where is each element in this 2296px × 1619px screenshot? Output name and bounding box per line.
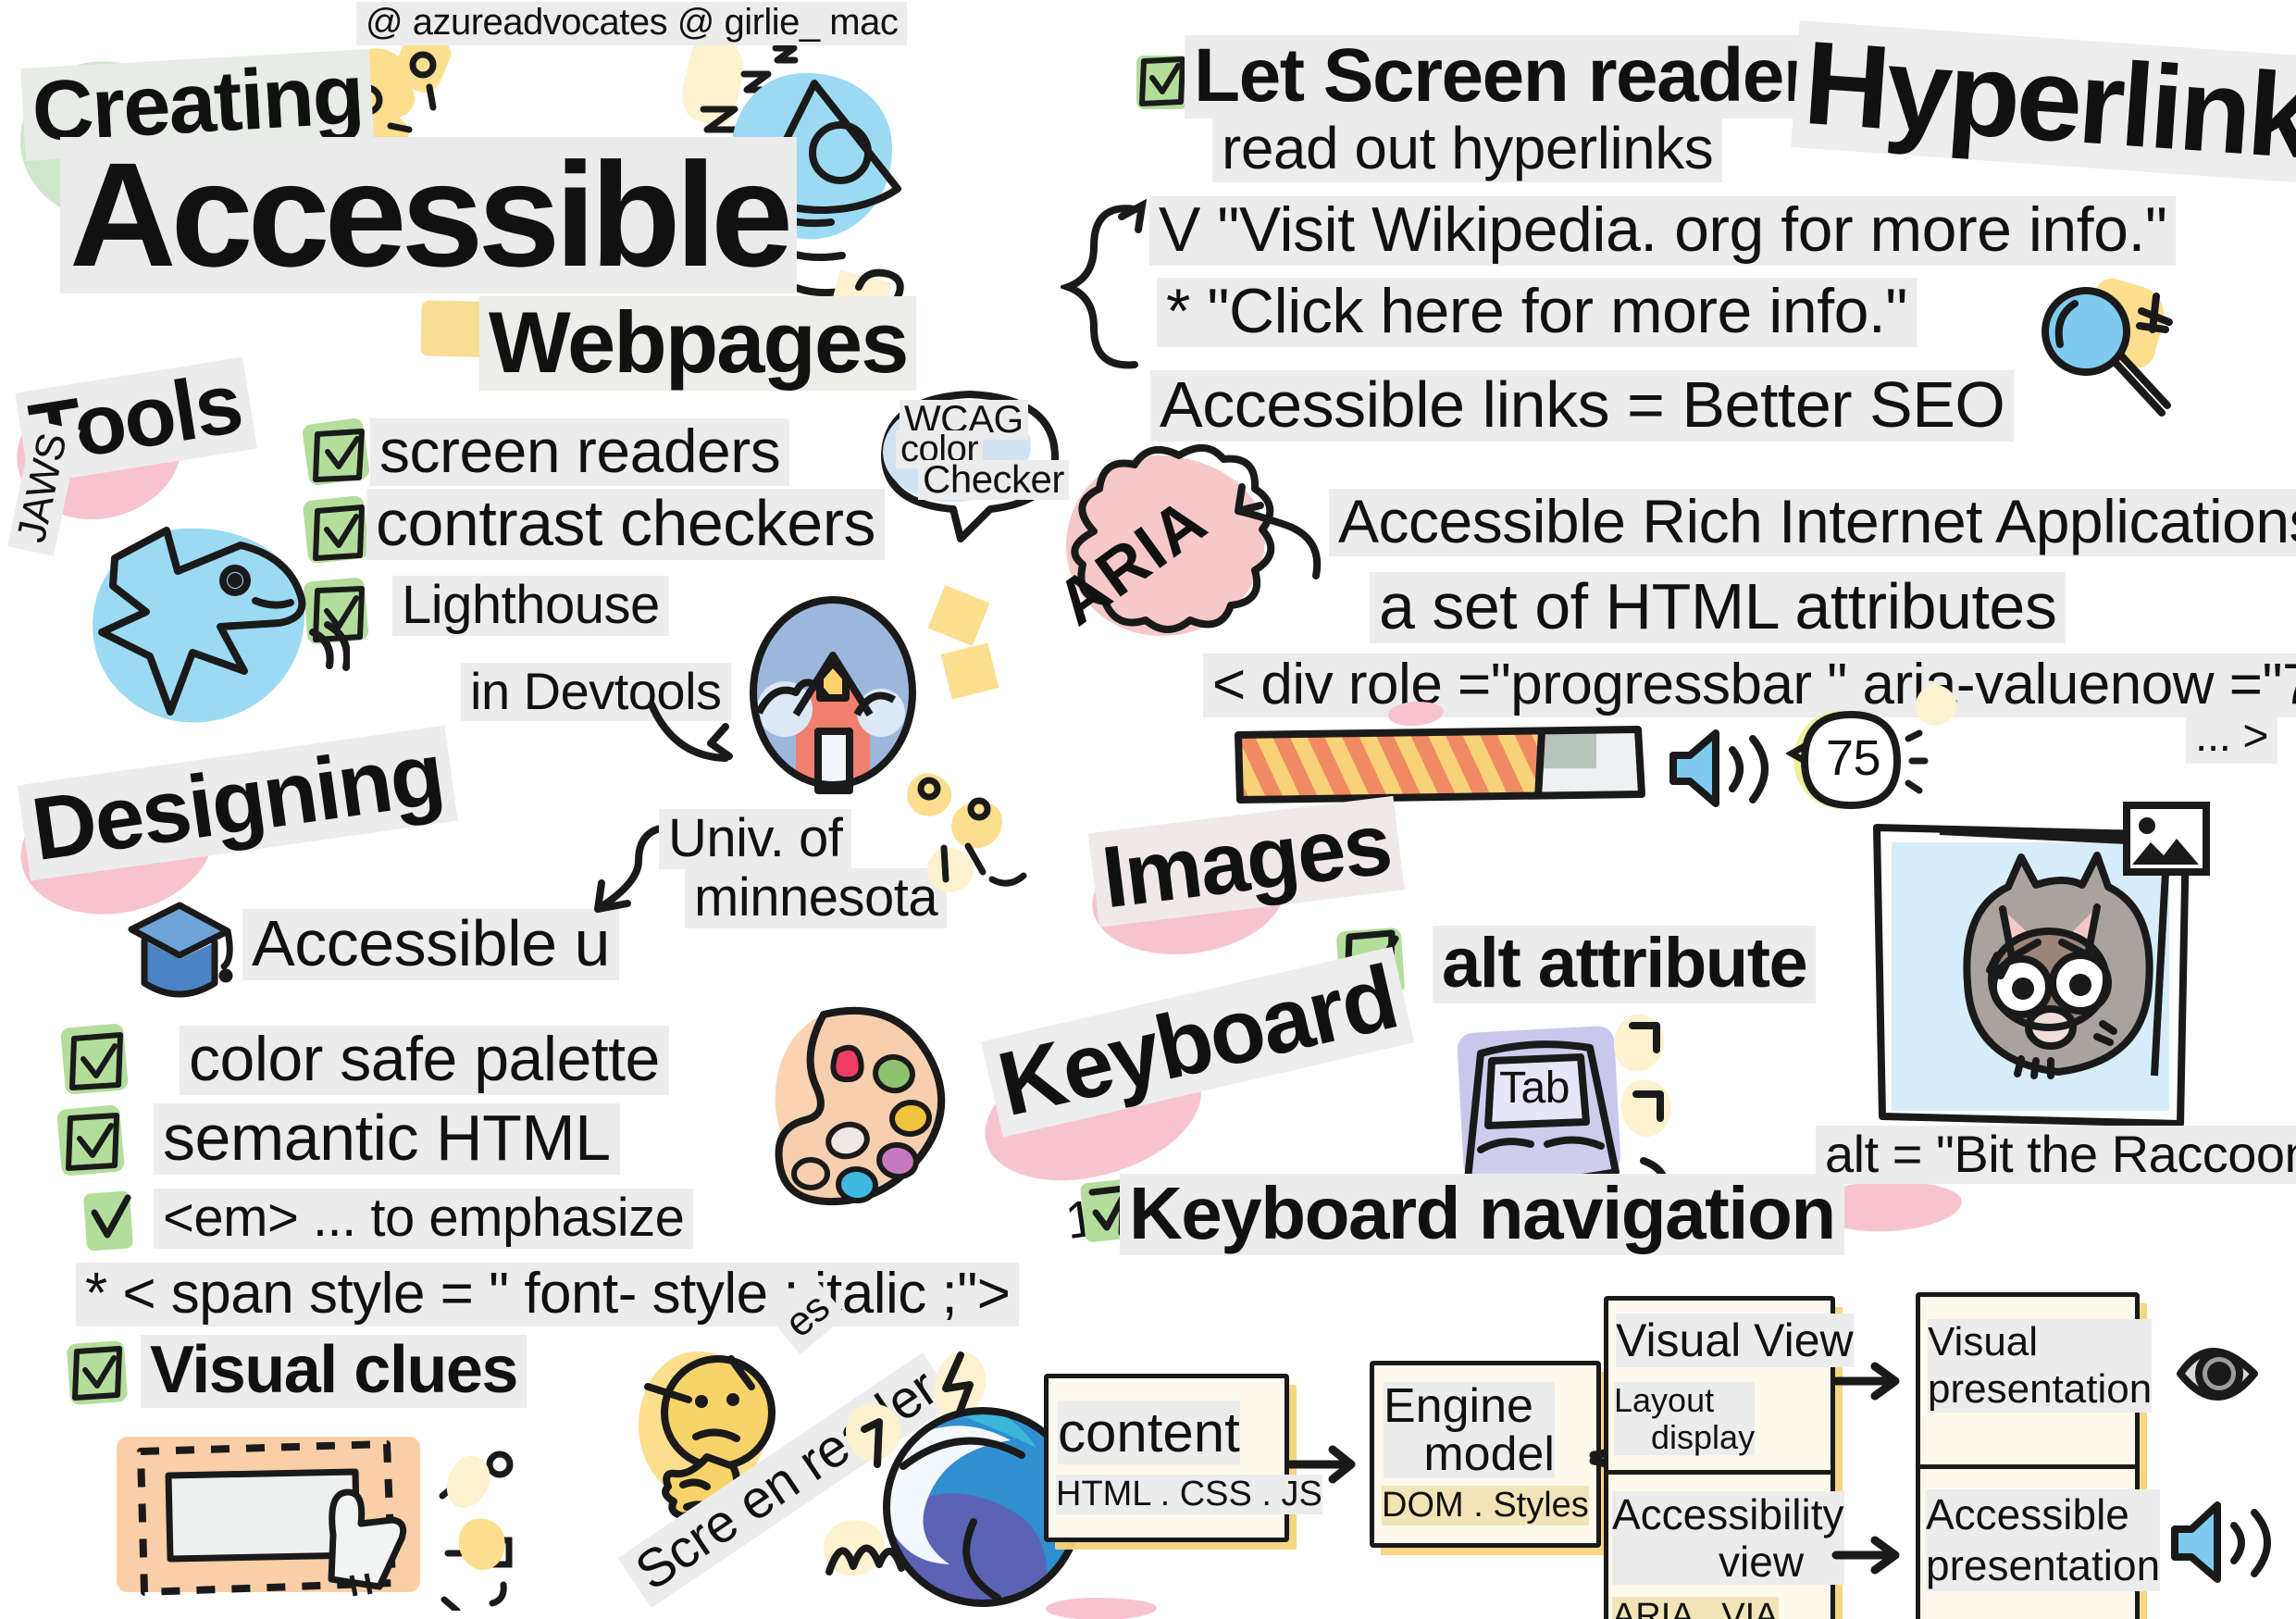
flow-arrow-a11yview-to-accessible: [1831, 1527, 1914, 1583]
flow-node-visual-presentation-title: Visual presentation: [1928, 1319, 2152, 1413]
speaker-icon-aria: [1664, 722, 1784, 815]
aria-progress-value: 75: [1817, 731, 1890, 788]
visual-clues-label: Visual clues: [141, 1335, 527, 1408]
alt-value-text: alt = "Bit the Raccoon": [1816, 1126, 2296, 1184]
flow-node-engine-sub: DOM . Styles: [1382, 1486, 1589, 1526]
hyperlinks-curly-bracket: [1061, 196, 1162, 381]
sticky-yellow-lighthouse-2: [941, 642, 999, 699]
sketchnote-canvas: @ azureadvocates @ girlie_ mac Creating …: [0, 0, 2296, 1619]
lighthouse-arrow: [639, 690, 768, 801]
flow-node-accessibility-view-title: Accessibility view: [1612, 1491, 1844, 1585]
lighthouse-icon: [740, 592, 925, 796]
hyperlinks-line-1: Let Screen reader: [1185, 35, 1820, 118]
graduation-cap-icon: [118, 890, 243, 1015]
tools-item-label-1: contrast checkers: [366, 489, 885, 560]
flow-node-engine: Engine model DOM . Styles: [1370, 1361, 1601, 1548]
hyperlinks-seo-note: Accessible links = Better SEO: [1150, 370, 2014, 442]
checkbox-screen-readers[interactable]: [309, 424, 370, 485]
flow-arrow-content-to-engine: [1285, 1437, 1368, 1492]
flow-node-engine-title: Engine model: [1384, 1382, 1555, 1478]
flow-node-accessible-presentation: Accessible presentation: [1916, 1464, 2140, 1619]
focus-ring-icon: [120, 1435, 435, 1611]
flow-arrow-visualview-to-visual: [1831, 1353, 1914, 1409]
keyboard-item-label: Keyboard navigation: [1120, 1174, 1844, 1255]
designing-item-label-0: color safe palette: [180, 1026, 669, 1095]
aria-arrow-from-cloud: [1212, 472, 1342, 592]
flow-node-content-sub: HTML . CSS . JS: [1056, 1475, 1322, 1514]
flow-node-visual-view: Visual View Layout display: [1604, 1296, 1835, 1481]
aria-code-snippet: < div role ="progressbar " aria-valuenow…: [1203, 654, 2296, 717]
tools-item-label-0: screen readers: [370, 418, 789, 486]
checkbox-color-safe-palette[interactable]: [65, 1027, 130, 1094]
hyperlinks-heading: Hyperlinks: [1791, 20, 2296, 187]
flow-node-visual-view-title: Visual View: [1616, 1314, 1854, 1367]
checkbox-let-screen-reader[interactable]: [1136, 54, 1190, 109]
designing-heading: Designing: [18, 726, 458, 881]
tab-key-label: Tab: [1490, 1065, 1579, 1115]
progress-bar-icon: [1231, 722, 1647, 810]
designing-item-label-1: semantic HTML: [154, 1103, 620, 1175]
eye-icon: [2166, 1314, 2277, 1435]
designing-item-label-2: <em> ... to emphasize: [154, 1189, 693, 1249]
flow-node-content: content HTML . CSS . JS: [1044, 1374, 1289, 1542]
checkbox-semantic-html[interactable]: [61, 1109, 126, 1176]
title-word-webpages: Webpages: [479, 296, 916, 391]
hyperlinks-good-example: V "Visit Wikipedia. org for more info.": [1149, 196, 2176, 266]
scatter-pink-2: [1046, 1598, 1157, 1619]
title-word-accessible: Accessible: [60, 137, 797, 293]
sticky-yellow-lighthouse-1: [928, 585, 990, 646]
hyperlinks-line-2: read out hyperlinks: [1212, 117, 1722, 182]
speaker-icon-flow: [2166, 1488, 2286, 1600]
tab-arrows-doodle: [1612, 1009, 1714, 1194]
magnifier-icon: [2025, 278, 2191, 435]
tools-item-label-2: Lighthouse: [392, 576, 669, 636]
checkbox-visual-clues[interactable]: [68, 1342, 128, 1405]
shark-icon: [81, 514, 350, 745]
aria-definition: a set of HTML attributes: [1370, 572, 2066, 643]
images-heading: Images: [1088, 796, 1405, 928]
flow-node-content-title: content: [1058, 1401, 1240, 1464]
alt-attribute-label: alt attribute: [1433, 926, 1816, 1003]
aria-expansion: Accessible Rich Internet Applications: [1329, 489, 2296, 556]
flow-node-accessibility-view: Accessibility view ARIA . VIA: [1604, 1470, 1835, 1619]
hyperlinks-bad-example: * "Click here for more info.": [1157, 278, 1917, 347]
wcag-bubble-line-3: Checker: [918, 460, 1069, 500]
flow-node-accessible-presentation-title: Accessible presentation: [1926, 1489, 2160, 1591]
author-handles: @ azureadvocates @ girlie_ mac: [356, 2, 907, 45]
flow-node-visual-view-sub: Layout display: [1614, 1382, 1755, 1455]
minnesota-line-1: Univ. of: [659, 809, 851, 869]
checkbox-em-emphasize[interactable]: [85, 1192, 137, 1252]
palette-icon: [759, 992, 962, 1224]
flow-node-visual-presentation: Visual presentation: [1916, 1292, 2140, 1479]
flow-node-accessibility-view-sub: ARIA . VIA: [1612, 1597, 1779, 1619]
designing-bad-code: * < span style = " font- style : italic …: [76, 1263, 1019, 1326]
aria-code-tail: ... >: [2186, 713, 2277, 764]
designing-course-label: Accessible u: [242, 909, 619, 980]
minnesota-sparkle-doodle: [903, 768, 1033, 916]
